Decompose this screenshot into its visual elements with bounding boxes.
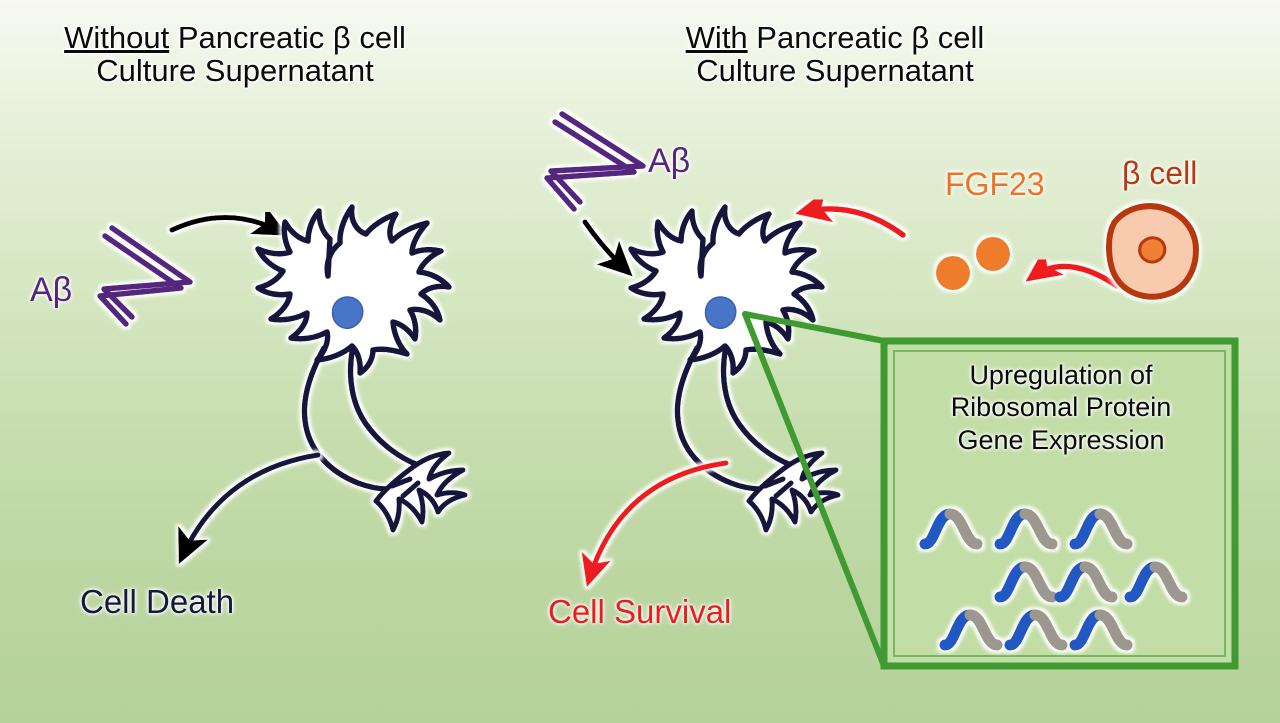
abeta-fibril-left	[100, 228, 190, 324]
cell-death-label: Cell Death	[80, 585, 234, 620]
beta-cell-shape	[1109, 206, 1196, 297]
panel-title-left: Without Pancreatic β cell Culture Supern…	[0, 22, 470, 88]
fgf23-dot	[936, 256, 970, 290]
arrow-fgf23-to-neuron	[803, 209, 903, 235]
panel-title-left-rest: Pancreatic β cell	[169, 20, 406, 55]
arrow-to-cell-survival	[589, 463, 726, 580]
arrow-to-cell-death	[182, 455, 318, 557]
panel-title-right-keyword: With	[686, 20, 748, 55]
panel-title-left-line2: Culture Supernatant	[0, 55, 470, 88]
fgf23-dots	[936, 237, 1010, 290]
abeta-label-right: Aβ	[648, 143, 690, 179]
arrow-abeta-to-neuron-left	[172, 217, 281, 232]
panel-title-right-line2: Culture Supernatant	[565, 55, 1105, 88]
arrow-betacell-to-fgf23	[1032, 266, 1117, 286]
figure-canvas: Without Pancreatic β cell Culture Supern…	[0, 0, 1280, 723]
abeta-label-left: Aβ	[30, 272, 72, 308]
callout-line-3: Gene Expression	[896, 424, 1226, 456]
arrow-abeta-to-neuron-right	[585, 222, 627, 271]
panel-title-left-keyword: Without	[64, 20, 169, 55]
neuron-left	[258, 207, 465, 530]
cell-survival-label: Cell Survival	[548, 595, 731, 630]
callout-box-text: Upregulation of Ribosomal Protein Gene E…	[896, 359, 1226, 456]
callout-line-2: Ribosomal Protein	[896, 391, 1226, 423]
abeta-fibril-right	[547, 114, 643, 209]
fgf23-dot	[976, 237, 1010, 271]
fgf23-label: FGF23	[945, 168, 1045, 202]
beta-cell-label: β cell	[1122, 157, 1197, 191]
callout-line-1: Upregulation of	[896, 359, 1226, 391]
panel-title-right-rest: Pancreatic β cell	[748, 20, 985, 55]
panel-title-right: With Pancreatic β cell Culture Supernata…	[565, 22, 1105, 88]
